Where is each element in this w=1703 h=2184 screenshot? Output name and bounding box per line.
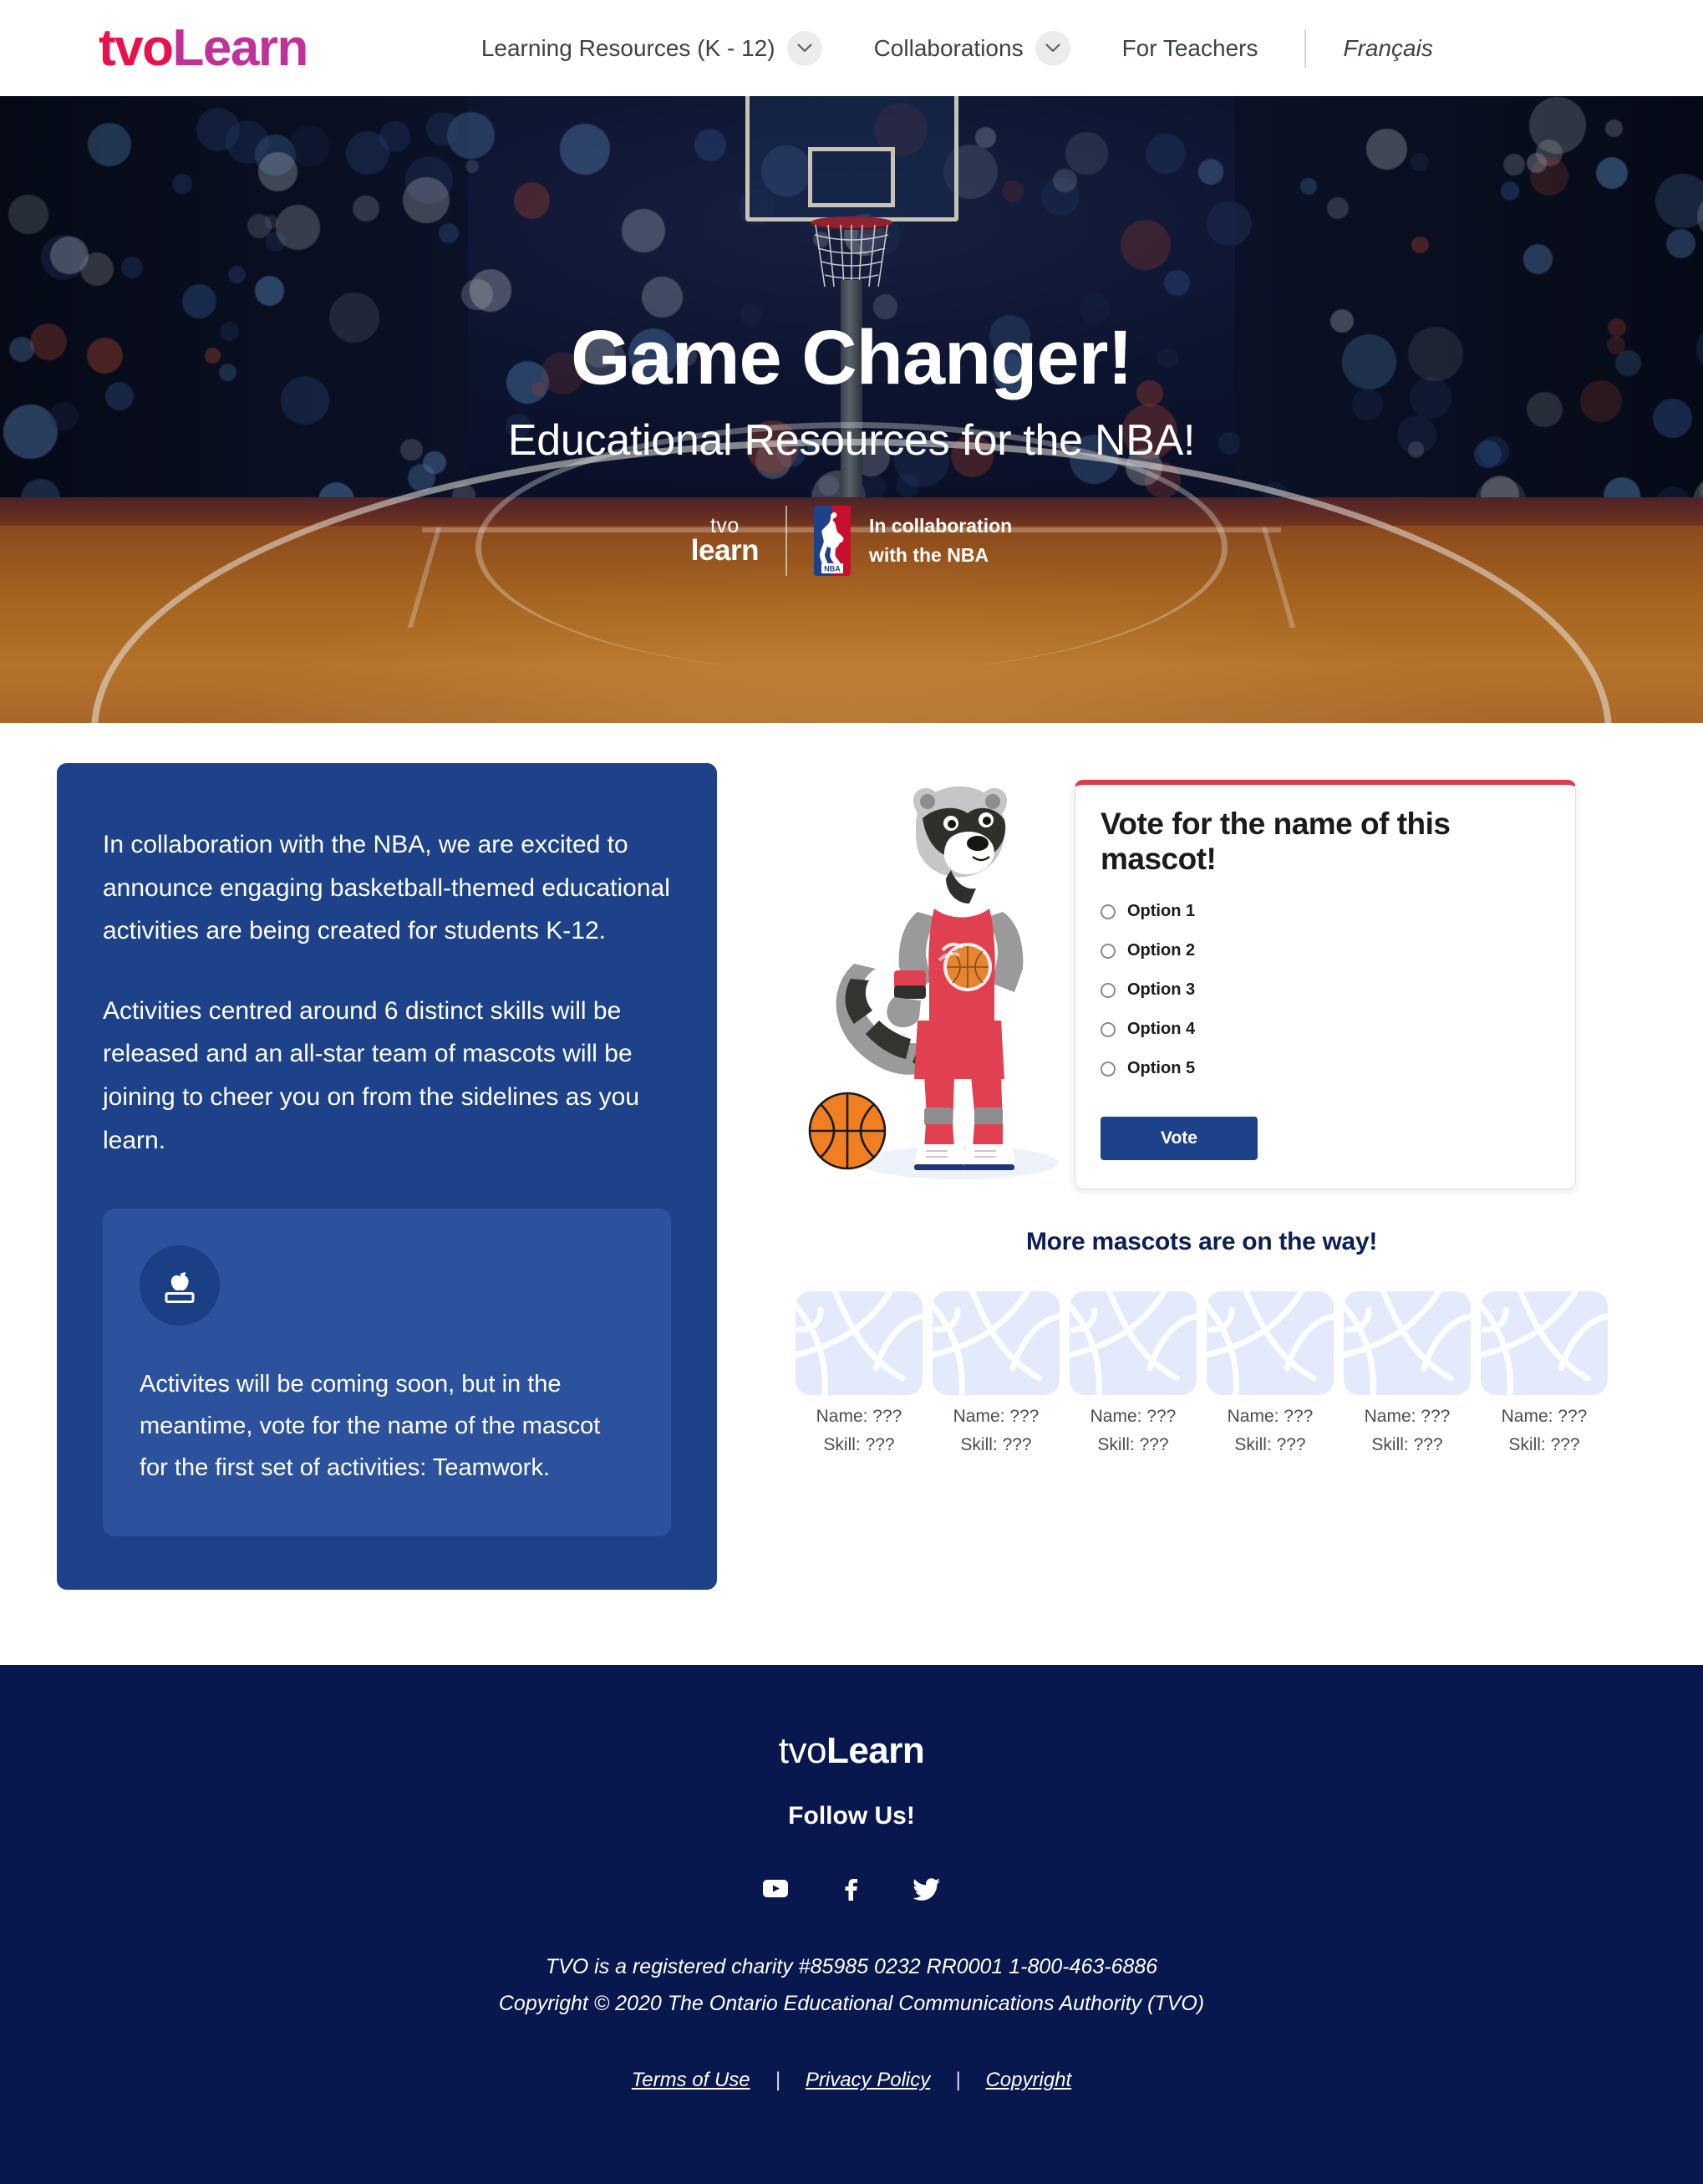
nav-item-learning-resources[interactable]: Learning Resources (K - 12) <box>481 31 822 66</box>
info-paragraph-1: In collaboration with the NBA, we are ex… <box>103 823 671 953</box>
basketball-placeholder-icon <box>1207 1291 1334 1395</box>
more-mascots-heading: More mascots are on the way! <box>757 1228 1646 1256</box>
radio-button-icon[interactable] <box>1101 1061 1116 1077</box>
radio-button-icon[interactable] <box>1101 904 1116 919</box>
footer-logo-tvo: tvo <box>779 1730 826 1771</box>
tvolearn-logo[interactable]: tvoLearn <box>99 23 308 74</box>
mascot-placeholder-skill: Skill: ??? <box>1344 1435 1471 1455</box>
hero-collaboration-text: In collaboration with the NBA <box>869 512 1012 569</box>
facebook-icon[interactable] <box>836 1874 865 1902</box>
radio-button-icon[interactable] <box>1101 944 1116 959</box>
vote-option-label: Option 2 <box>1127 941 1195 960</box>
vote-option-1[interactable]: Option 1 <box>1101 902 1550 921</box>
radio-button-icon[interactable] <box>1101 1022 1116 1037</box>
vote-option-2[interactable]: Option 2 <box>1101 941 1550 960</box>
top-navigation-bar: tvoLearn Learning Resources (K - 12) Col… <box>0 0 1703 96</box>
footer-link-privacy-policy[interactable]: Privacy Policy <box>806 2069 930 2092</box>
language-switch-francais[interactable]: Français <box>1343 35 1432 62</box>
mascot-placeholder-name: Name: ??? <box>1207 1407 1334 1427</box>
logo-tvo-text: tvo <box>99 19 173 77</box>
mascot-placeholder-grid: Name: ???Skill: ???Name: ???Skill: ???Na… <box>757 1291 1646 1455</box>
vote-card: Vote for the name of this mascot! Option… <box>1075 780 1576 1189</box>
mascot-placeholder-skill: Skill: ??? <box>933 1435 1060 1455</box>
nav-item-label: Collaborations <box>874 35 1024 62</box>
charity-line: TVO is a registered charity #85985 0232 … <box>0 1949 1703 1986</box>
legal-text: TVO is a registered charity #85985 0232 … <box>0 1949 1703 2023</box>
mascot-and-vote-row: Vote for the name of this mascot! Option… <box>757 770 1646 1188</box>
footer-logo-learn: Learn <box>826 1730 924 1771</box>
main-content: In collaboration with the NBA, we are ex… <box>0 723 1703 1665</box>
mascot-placeholder-3: Name: ???Skill: ??? <box>1070 1291 1197 1455</box>
apple-on-book-icon <box>140 1245 220 1326</box>
hero-subtitle: Educational Resources for the NBA! <box>0 415 1703 466</box>
nba-logo-icon: NBA <box>814 506 851 576</box>
vote-option-4[interactable]: Option 4 <box>1101 1020 1550 1039</box>
hero-banner: Game Changer! Educational Resources for … <box>0 96 1703 723</box>
vote-option-label: Option 4 <box>1127 1020 1195 1039</box>
radio-button-icon[interactable] <box>1101 983 1116 998</box>
callout-card: Activites will be coming soon, but in th… <box>103 1209 671 1536</box>
svg-text:NBA: NBA <box>824 564 841 573</box>
vote-option-label: Option 1 <box>1127 902 1195 921</box>
hero-logo-learn: learn <box>691 537 759 564</box>
mascot-placeholder-2: Name: ???Skill: ??? <box>933 1291 1060 1455</box>
mascot-placeholder-5: Name: ???Skill: ??? <box>1344 1291 1471 1455</box>
nav-item-label: Learning Resources (K - 12) <box>481 35 775 62</box>
footer-link-terms-of-use[interactable]: Terms of Use <box>632 2069 750 2092</box>
footer-links: Terms of Use | Privacy Policy | Copyrigh… <box>0 2069 1703 2092</box>
nav-item-collaborations[interactable]: Collaborations <box>874 31 1070 66</box>
mascot-placeholder-1: Name: ???Skill: ??? <box>796 1291 923 1455</box>
vote-card-title: Vote for the name of this mascot! <box>1101 807 1550 877</box>
nav-divider <box>1304 29 1306 68</box>
nav-items: Learning Resources (K - 12) Collaboratio… <box>481 29 1433 68</box>
mascot-placeholder-skill: Skill: ??? <box>1070 1435 1197 1455</box>
mascot-placeholder-name: Name: ??? <box>1070 1407 1197 1427</box>
footer-link-copyright[interactable]: Copyright <box>985 2069 1071 2092</box>
vote-option-label: Option 5 <box>1127 1059 1195 1078</box>
mascot-placeholder-4: Name: ???Skill: ??? <box>1207 1291 1334 1455</box>
vote-submit-button[interactable]: Vote <box>1101 1117 1258 1160</box>
raccoon-mascot-illustration <box>796 770 1080 1188</box>
nav-item-for-teachers[interactable]: For Teachers <box>1122 35 1258 62</box>
mascot-placeholder-6: Name: ???Skill: ??? <box>1481 1291 1608 1455</box>
chevron-down-icon[interactable] <box>1035 31 1070 66</box>
footer-link-separator: | <box>955 2069 960 2092</box>
callout-text: Activites will be coming soon, but in th… <box>140 1364 634 1489</box>
twitter-icon[interactable] <box>912 1874 942 1902</box>
vote-option-label: Option 3 <box>1127 980 1195 1000</box>
footer-link-separator: | <box>775 2069 780 2092</box>
mascot-placeholder-name: Name: ??? <box>1481 1407 1608 1427</box>
badge-divider <box>785 506 787 576</box>
hero-content: Game Changer! Educational Resources for … <box>0 96 1703 576</box>
hero-title: Game Changer! <box>0 318 1703 399</box>
site-footer: tvoLearn Follow Us! TVO is a registered … <box>0 1665 1703 2184</box>
info-panel: In collaboration with the NBA, we are ex… <box>57 763 717 1590</box>
vote-option-5[interactable]: Option 5 <box>1101 1059 1550 1078</box>
basketball-placeholder-icon <box>796 1291 923 1395</box>
social-links <box>0 1874 1703 1902</box>
mascot-placeholder-name: Name: ??? <box>1344 1407 1471 1427</box>
basketball-placeholder-icon <box>933 1291 1060 1395</box>
mascot-placeholder-name: Name: ??? <box>796 1407 923 1427</box>
mascot-placeholder-skill: Skill: ??? <box>796 1435 923 1455</box>
nav-item-label: For Teachers <box>1122 35 1258 62</box>
youtube-icon[interactable] <box>761 1874 790 1902</box>
logo-learn-text: Learn <box>173 19 308 77</box>
basketball-placeholder-icon <box>1070 1291 1197 1395</box>
basketball-placeholder-icon <box>1481 1291 1608 1395</box>
vote-option-3[interactable]: Option 3 <box>1101 980 1550 1000</box>
basketball-placeholder-icon <box>1344 1291 1471 1395</box>
copyright-line: Copyright © 2020 The Ontario Educational… <box>0 1986 1703 2023</box>
mascot-placeholder-skill: Skill: ??? <box>1207 1435 1334 1455</box>
right-column: Vote for the name of this mascot! Option… <box>757 763 1646 1455</box>
mascot-placeholder-skill: Skill: ??? <box>1481 1435 1608 1455</box>
chevron-down-icon[interactable] <box>787 31 822 66</box>
mascot-placeholder-name: Name: ??? <box>933 1407 1060 1427</box>
footer-tvolearn-logo[interactable]: tvoLearn <box>0 1730 1703 1772</box>
hero-tvolearn-logo: tvo learn <box>691 517 759 564</box>
hero-partner-badges: tvo learn NBA In collaboration with the … <box>0 506 1703 576</box>
info-paragraph-2: Activities centred around 6 distinct ski… <box>103 990 671 1162</box>
follow-us-label: Follow Us! <box>0 1802 1703 1830</box>
